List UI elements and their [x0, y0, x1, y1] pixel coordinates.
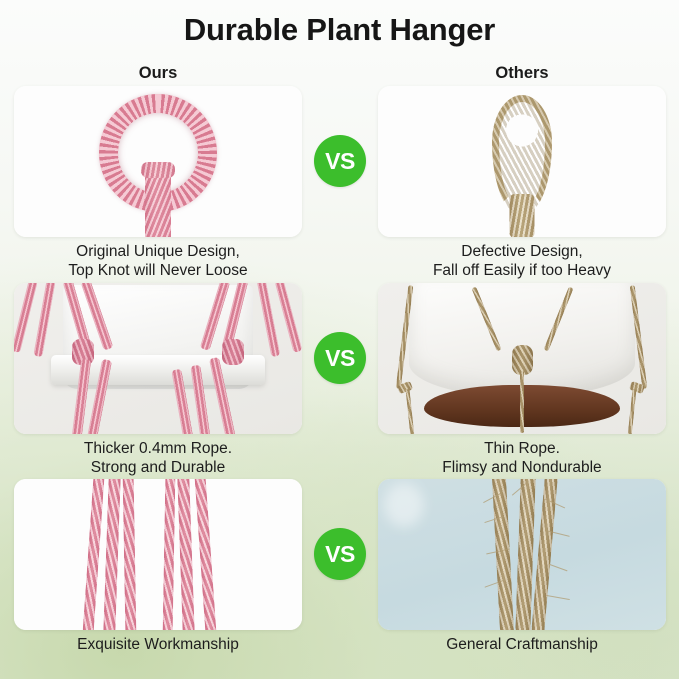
pink-cord-strand	[275, 283, 302, 353]
others-top-knot-photo	[378, 86, 666, 237]
pink-cord-strand	[177, 479, 195, 630]
caption-others-top-knot: Defective Design, Fall off Easily if too…	[378, 242, 666, 280]
caption-line-2: Strong and Durable	[14, 458, 302, 477]
pink-cord-strand	[103, 479, 121, 630]
caption-line-1: Thicker 0.4mm Rope.	[14, 439, 302, 458]
frayed-jute-strand	[492, 479, 515, 630]
jute-coil-shape	[510, 194, 535, 237]
caption-line-2: Flimsy and Nondurable	[378, 458, 666, 477]
caption-line-1: Exquisite Workmanship	[14, 635, 302, 654]
jute-fray	[548, 564, 567, 572]
comparison-infographic: Durable Plant Hanger Ours Others VS Orig…	[0, 0, 679, 679]
product-image-others-rope	[378, 283, 666, 434]
caption-ours-rope: Thicker 0.4mm Rope. Strong and Durable	[14, 439, 302, 477]
ours-workmanship-photo	[14, 479, 302, 630]
pink-cord-strand	[14, 283, 38, 353]
caption-line-1: General Craftmanship	[378, 635, 666, 654]
jute-strand	[406, 389, 415, 434]
caption-line-1: Original Unique Design,	[14, 242, 302, 261]
column-header-others: Others	[378, 64, 666, 83]
caption-line-1: Defective Design,	[378, 242, 666, 261]
ours-rope-photo	[14, 283, 302, 434]
background-highlight	[384, 483, 424, 527]
column-header-ours: Ours	[14, 64, 302, 83]
product-image-ours-rope	[14, 283, 302, 434]
pink-knot-right	[222, 339, 244, 365]
pink-rope-stem-shape	[145, 168, 171, 237]
caption-ours-workmanship: Exquisite Workmanship	[14, 635, 302, 654]
jute-fray	[546, 595, 570, 600]
pink-cord-strand	[163, 479, 176, 630]
caption-line-2: Top Knot will Never Loose	[14, 261, 302, 280]
pink-cord-strand	[123, 479, 137, 630]
caption-others-workmanship: General Craftmanship	[378, 635, 666, 654]
product-image-others-top-knot	[378, 86, 666, 237]
pink-cord-strand	[82, 479, 104, 630]
jute-strand	[520, 371, 524, 433]
pink-collar-knot-shape	[141, 162, 175, 178]
caption-ours-top-knot: Original Unique Design, Top Knot will Ne…	[14, 242, 302, 280]
caption-line-1: Thin Rope.	[378, 439, 666, 458]
vs-badge-row-2: VS	[314, 332, 366, 384]
product-image-ours-workmanship	[14, 479, 302, 630]
pink-cord-strand	[257, 283, 281, 357]
page-title: Durable Plant Hanger	[0, 12, 679, 48]
others-rope-photo	[378, 283, 666, 434]
vs-badge-row-1: VS	[314, 135, 366, 187]
pink-cord-strand	[194, 479, 216, 630]
caption-others-rope: Thin Rope. Flimsy and Nondurable	[378, 439, 666, 477]
ours-top-knot-photo	[14, 86, 302, 237]
others-workmanship-photo	[378, 479, 666, 630]
product-image-others-workmanship	[378, 479, 666, 630]
vs-badge-row-3: VS	[314, 528, 366, 580]
pink-cord-strand	[33, 283, 55, 357]
product-image-ours-top-knot	[14, 86, 302, 237]
caption-line-2: Fall off Easily if too Heavy	[378, 261, 666, 280]
jute-strand	[628, 389, 637, 434]
